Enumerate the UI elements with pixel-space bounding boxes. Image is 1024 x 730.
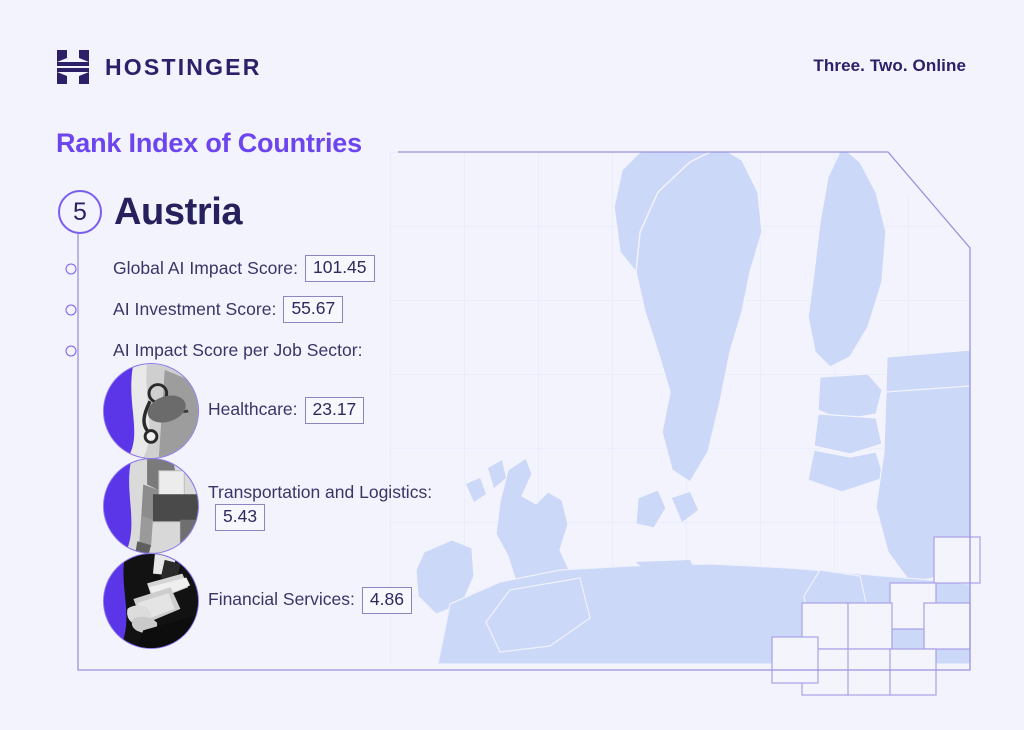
transportation-logistics-photo-icon bbox=[103, 458, 199, 554]
logo-wordmark: HOSTINGER bbox=[105, 56, 262, 79]
metric-value: 101.45 bbox=[305, 255, 375, 282]
sector-text: Healthcare:23.17 bbox=[208, 397, 364, 424]
sector-value: 23.17 bbox=[305, 397, 365, 424]
country-name: Austria bbox=[114, 191, 242, 234]
metrics-list: Global AI Impact Score: 101.45 AI Invest… bbox=[0, 248, 460, 371]
hostinger-logo[interactable]: HOSTINGER bbox=[55, 48, 262, 86]
sector-text: Financial Services:4.86 bbox=[208, 587, 412, 614]
bullet-circle-icon bbox=[66, 345, 77, 356]
metric-label: Global AI Impact Score: bbox=[113, 258, 298, 279]
list-item: AI Investment Score: 55.67 bbox=[0, 289, 460, 330]
sector-label: Financial Services: bbox=[208, 589, 355, 609]
hostinger-h-mark bbox=[55, 48, 91, 86]
rank-country-header: 5 Austria bbox=[58, 190, 242, 234]
bullet-circle-icon bbox=[66, 304, 77, 315]
sector-text: Transportation and Logistics:5.43 bbox=[208, 480, 458, 532]
rank-badge: 5 bbox=[58, 190, 102, 234]
metric-label: AI Impact Score per Job Sector: bbox=[113, 340, 363, 361]
tagline: Three. Two. Online bbox=[813, 56, 966, 76]
sector-label: Healthcare: bbox=[208, 399, 298, 419]
list-item: Global AI Impact Score: 101.45 bbox=[0, 248, 460, 289]
bullet-circle-icon bbox=[66, 263, 77, 274]
sector-list: Healthcare:23.17 Tra bbox=[0, 363, 470, 648]
sector-label: Transportation and Logistics: bbox=[208, 482, 432, 502]
page-title: Rank Index of Countries bbox=[56, 128, 362, 159]
metric-value: 55.67 bbox=[283, 296, 343, 323]
sector-value: 5.43 bbox=[215, 504, 265, 531]
sector-value: 4.86 bbox=[362, 587, 412, 614]
infographic-canvas: HOSTINGER Three. Two. Online Rank Index … bbox=[0, 0, 1024, 730]
list-item: Financial Services:4.86 bbox=[0, 553, 470, 648]
list-item: Transportation and Logistics:5.43 bbox=[0, 458, 470, 553]
healthcare-photo-icon bbox=[103, 363, 199, 459]
financial-services-photo-icon bbox=[103, 553, 199, 649]
metric-label: AI Investment Score: bbox=[113, 299, 276, 320]
list-item: Healthcare:23.17 bbox=[0, 363, 470, 458]
